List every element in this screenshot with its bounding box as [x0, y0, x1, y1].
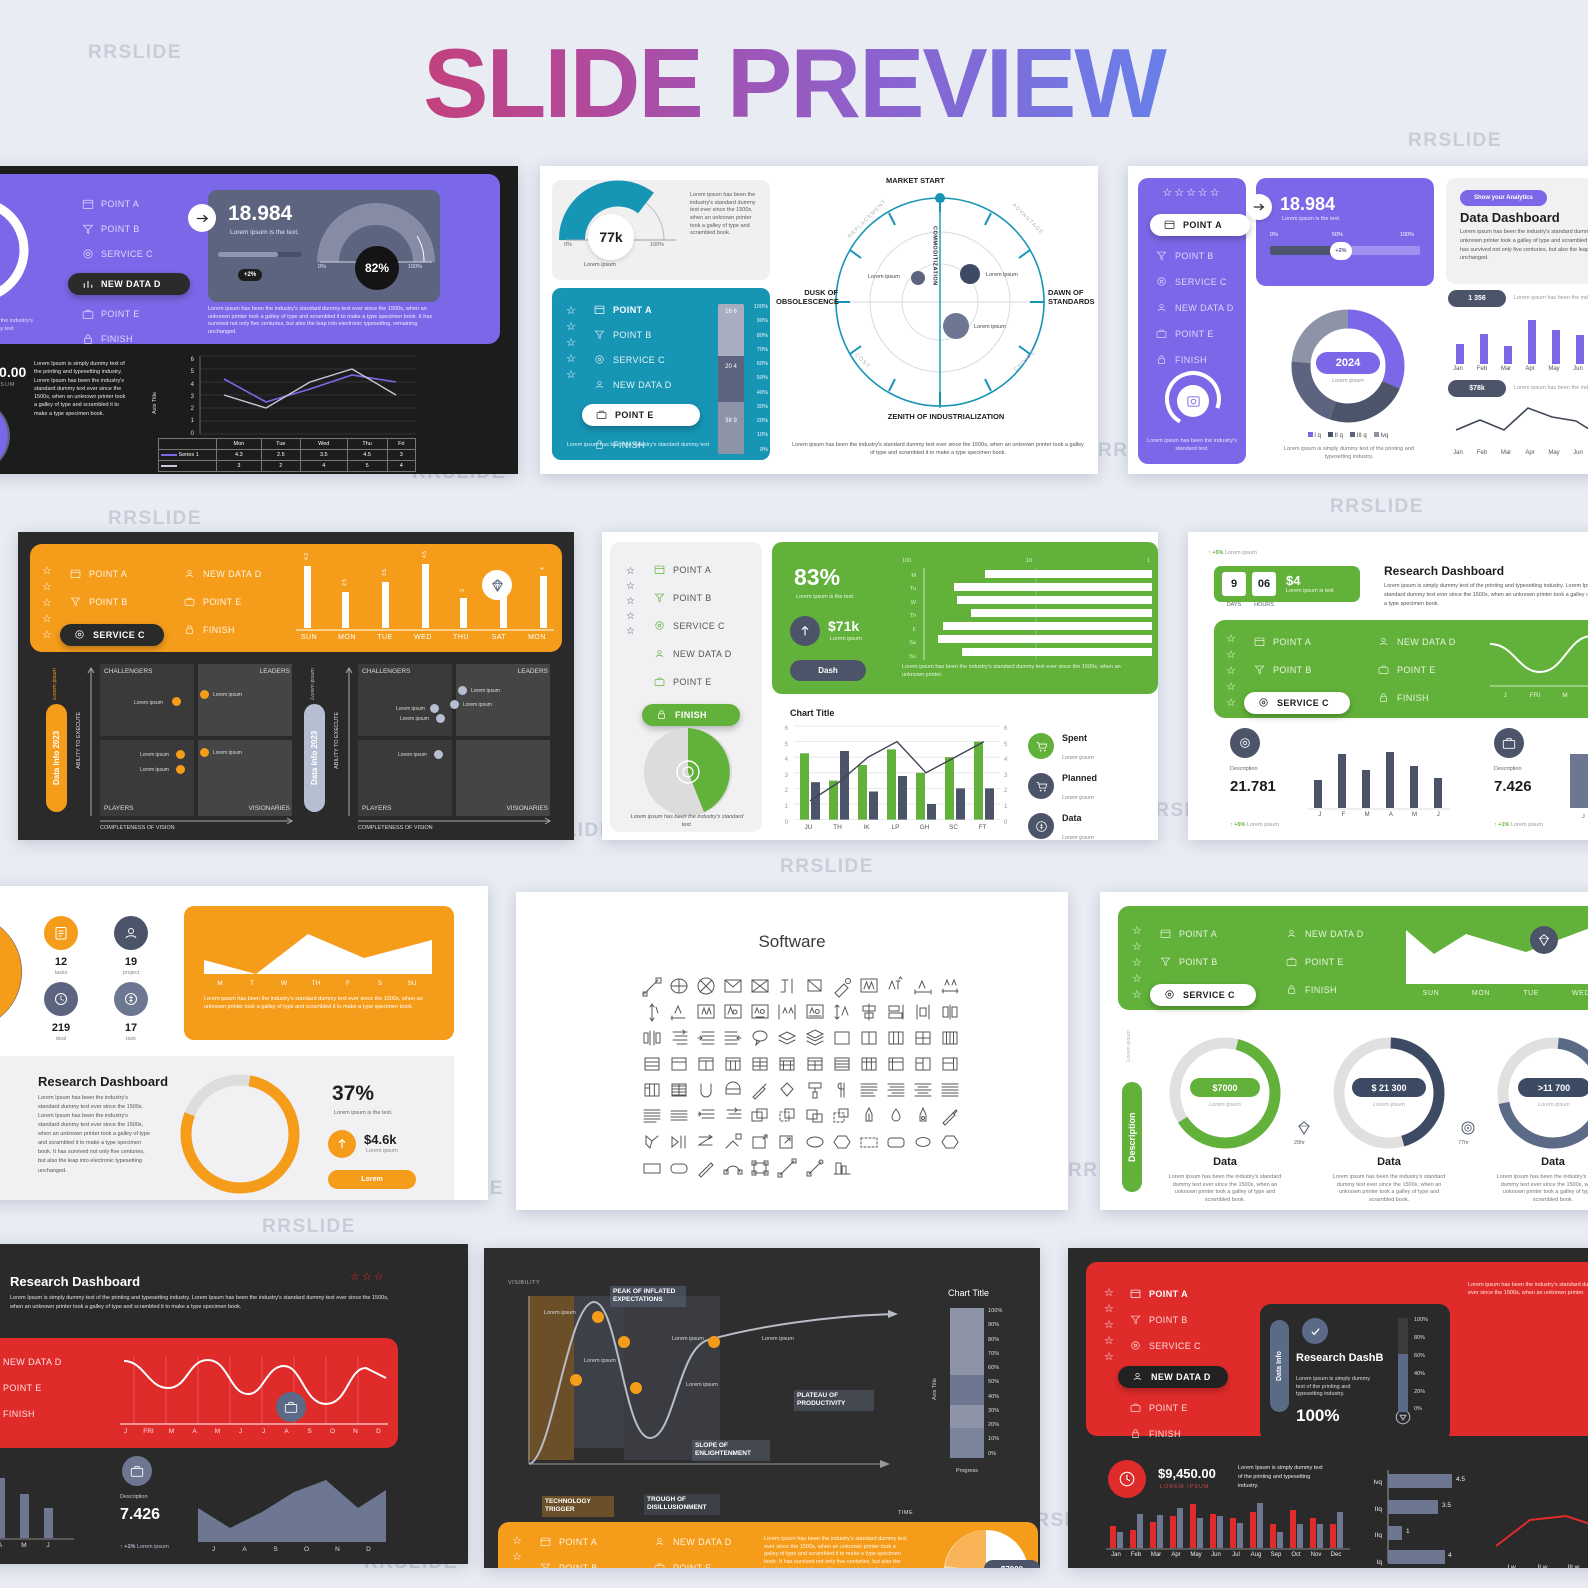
star-rating[interactable]: ☆☆☆☆☆ — [1226, 632, 1236, 712]
top-note: Lorem ipsum has been the industry's stan… — [1468, 1282, 1588, 1297]
radar-label-right: DAWN OF STANDARDS — [1048, 288, 1098, 307]
slider-thumb[interactable]: +2% — [1330, 242, 1352, 260]
bubble — [176, 750, 185, 759]
progress-ticks: 100%90% 80%70% 60%50% 40%30% 20%10% 0% — [988, 1304, 1002, 1461]
sidebar-caption: Lorem ipsum has been the industry's stan… — [1146, 438, 1238, 453]
quadrant-right: Data Info 2023 Lorem ipsum ABILITY TO EX… — [304, 664, 554, 832]
software-icon — [696, 1158, 716, 1178]
slider-tick: 100% — [1400, 232, 1414, 240]
donut-paragraph: Lorem ipsum has been the industry's stan… — [1328, 1174, 1450, 1205]
slide-software-icon-grid[interactable]: Software — [516, 892, 1068, 1210]
radar-label-top: MARKET START — [886, 176, 945, 185]
nav-item-new-data-d[interactable]: NEW DATA D — [1150, 302, 1250, 314]
nav-label: NEW DATA D — [1175, 303, 1234, 313]
quadrant-y-axis: ABILITY TO EXECUTE — [334, 712, 342, 769]
nav-label: SERVICE C — [1175, 277, 1227, 287]
quadrant-badge: Data Info 2023 — [304, 704, 325, 812]
progress-segment — [950, 1308, 984, 1375]
nav-item-finish[interactable]: FINISH — [1130, 1428, 1228, 1440]
week-labels: I w II w III w IV — [1496, 1564, 1588, 1568]
nav-label: POINT B — [89, 597, 128, 607]
slide-red-dashboard[interactable]: ☆☆☆☆☆ POINT A POINT B SERVICE C NEW DATA… — [1068, 1248, 1588, 1568]
quadrant-left: Data Info 2023 Lorem ipsum ABILITY TO EX… — [46, 664, 296, 832]
stat-delta: ↑ +5% Lorem ipsum — [1230, 822, 1279, 830]
nav-item-point-b[interactable]: POINT B — [1254, 664, 1350, 676]
slide-orange-research-dashboard[interactable]: 42% 12 tasks 19 project 219 deal 17 task… — [0, 886, 488, 1200]
hbar-values: 4.5 3.5 1 4 — [1386, 1470, 1482, 1568]
nav-list[interactable]: POINT A POINT B SERVICE C NEW DATA D POI… — [82, 198, 190, 345]
card-meter-ticks: 100%80% 60%40% 20%0% — [1414, 1312, 1428, 1419]
nav-list[interactable]: POINT A POINT B SERVICE C NEW DATA D POI… — [1130, 1288, 1228, 1440]
filter-icon — [654, 592, 666, 604]
panel-month-labels: J FRI M A M J — [1490, 692, 1588, 699]
nav-label: FINISH — [1305, 985, 1337, 995]
axis-title: Axis Title — [152, 392, 160, 414]
nav-item-point-e[interactable]: POINT E — [184, 596, 262, 608]
money-label: LOREM IPSUM — [1160, 1484, 1210, 1492]
day-labels: SUN MON TUE WED THU SAT MON — [290, 634, 556, 641]
legend-sub: Lorem ipsum — [1062, 755, 1094, 761]
nav-label: POINT B — [673, 593, 712, 603]
star-rating[interactable]: ☆☆☆☆☆ — [626, 564, 635, 639]
software-icon — [886, 1028, 906, 1048]
meter-segment: 16 6 — [718, 304, 744, 356]
dollar-icon — [1028, 813, 1054, 839]
countdown-days-value: 9 — [1222, 572, 1246, 596]
legend-item-data: Data Lorem ipsum — [1028, 808, 1094, 840]
lock-icon — [1378, 692, 1390, 704]
software-icon — [940, 1002, 960, 1022]
nav-item-point-b[interactable]: POINT B — [1150, 250, 1250, 262]
nav-label: POINT E — [673, 677, 712, 687]
countdown-hours-value: 06 — [1252, 572, 1276, 596]
software-icon — [913, 1106, 933, 1126]
red-line-chart — [1496, 1502, 1588, 1558]
gauge-percent: 82% — [355, 246, 399, 290]
software-icon — [669, 1158, 689, 1178]
nav-item-service-c[interactable]: SERVICE C — [594, 354, 700, 366]
software-icon — [696, 1054, 716, 1074]
nav-label: NEW DATA D — [1397, 637, 1456, 647]
nav-item-service-c[interactable]: SERVICE C — [1130, 1340, 1228, 1352]
radar-axis-label: COMMODITIZATION — [930, 226, 938, 286]
clock-icon — [1108, 1460, 1146, 1498]
people-icon — [1132, 1371, 1144, 1383]
card-meter — [1398, 1318, 1408, 1412]
nav-label: POINT B — [101, 224, 140, 234]
nav-list[interactable]: POINT A POINT B SERVICE C NEW DATA D POI… — [654, 564, 740, 726]
nav-list-col2[interactable]: NEW DATA D POINT E FINISH — [184, 568, 262, 636]
target-icon — [1460, 1120, 1476, 1136]
software-icon — [913, 976, 933, 996]
nav-item-point-a[interactable]: POINT A — [540, 1536, 632, 1548]
stat-month-label: J — [1582, 814, 1585, 822]
nav-label: POINT B — [1179, 957, 1218, 967]
chart-icon — [82, 278, 94, 290]
nav-item-point-b[interactable]: POINT B — [70, 596, 164, 608]
bar-month-labels: J F M A M J — [0, 1542, 76, 1549]
donut-title: Data — [1348, 1156, 1430, 1168]
bubble — [200, 690, 209, 699]
nav-item-service-c-active[interactable]: SERVICE C — [1150, 984, 1256, 1006]
software-icon — [805, 1132, 825, 1152]
nav-label: NEW DATA D — [613, 380, 672, 390]
nav-label: NEW DATA D — [101, 279, 161, 289]
gear-icon — [654, 620, 666, 632]
nav-item-point-e-active[interactable]: POINT E — [582, 404, 700, 426]
nav-item-point-b[interactable]: POINT B — [594, 329, 700, 341]
nav-item-new-data-d[interactable]: NEW DATA D — [594, 379, 700, 391]
stat-badge: 1 356 — [1448, 290, 1506, 307]
nav-item-finish[interactable]: FINISH — [0, 1408, 62, 1420]
slide-green-research-dashboard[interactable]: ↑ +5% Lorem ipsum 9 06 DAYS HOURS $4 Lor… — [1188, 532, 1588, 840]
nav-item-service-c[interactable]: SERVICE C — [82, 248, 190, 260]
gauge-min: 0% — [318, 264, 326, 272]
lock-icon — [656, 709, 668, 721]
month-labels: Jan Feb Mar Apr May Jun Jul Aug — [1446, 450, 1588, 456]
quadrant-label-br: VISIONARIES — [456, 804, 548, 813]
panel-line-chart — [1490, 630, 1588, 692]
nav-list-col2[interactable]: NEW DATA D POINT E FINISH — [1286, 928, 1364, 996]
side-note: Lorem ipsum — [1126, 1030, 1134, 1062]
card-percent: 100% — [1296, 1406, 1339, 1426]
trend-badge: ↑ +5% Lorem ipsum — [1208, 550, 1257, 558]
nav-item-point-b[interactable]: POINT B — [540, 1562, 632, 1568]
nav-item-point-a[interactable]: POINT A — [594, 304, 700, 316]
line-marker-icon — [276, 1392, 306, 1422]
slider-tick: 50% — [1332, 232, 1343, 240]
donut-value: >11 700 — [1518, 1078, 1588, 1097]
star-rating[interactable]: ☆☆☆☆☆ — [1132, 924, 1142, 1004]
nav-label: SERVICE C — [673, 621, 725, 631]
nav-item-point-b[interactable]: POINT B — [1130, 1314, 1228, 1326]
nav-item-point-b[interactable]: POINT B — [82, 223, 190, 235]
check-icon — [1302, 1318, 1328, 1344]
nav-item-new-data-d[interactable]: NEW DATA D — [654, 648, 740, 660]
quadrant-label-tr: LEADERS — [198, 667, 290, 676]
donut-sub: Lorem ipsum — [1518, 1102, 1588, 1110]
donut-caption: Lorem ipsum is simply dummy text of the … — [1282, 446, 1416, 461]
star-rating[interactable]: ☆☆☆☆☆ — [512, 1534, 522, 1568]
software-icon — [696, 1028, 716, 1048]
bubble — [436, 714, 445, 723]
star-rating[interactable]: ☆☆☆☆☆ — [1104, 1286, 1114, 1366]
delta-badge: +2% — [238, 269, 262, 281]
nav-item-new-data-d[interactable]: NEW DATA D — [1378, 636, 1456, 648]
bubble — [176, 765, 185, 774]
nav-label: POINT A — [101, 199, 139, 209]
analytics-badge[interactable]: Show your Analytics — [1460, 190, 1547, 206]
nav-item-point-e[interactable]: POINT E — [1286, 956, 1364, 968]
area-paragraph: Lorem ipsum has been the industry's stan… — [204, 996, 436, 1011]
software-icon — [642, 1106, 662, 1126]
bubble-label: Lorem ipsum — [134, 700, 163, 706]
software-icon — [723, 1028, 743, 1048]
software-icon — [777, 976, 797, 996]
nav-item-point-e[interactable]: POINT E — [654, 676, 740, 688]
slide-teal-market-radar[interactable]: 77k 0% 100% Lorem ipsum Lorem ipsum has … — [540, 166, 1098, 474]
stat-value: 219 — [42, 1022, 80, 1034]
lorem-button[interactable]: Lorem — [328, 1170, 416, 1189]
nav-list-col2[interactable]: NEW DATA D POINT E FINISH — [1378, 636, 1456, 704]
panel-month-labels: J FRI M A M J J A S O N D — [114, 1428, 394, 1435]
stat-label: project — [114, 970, 148, 978]
software-icon — [777, 1106, 797, 1126]
filter-icon — [1130, 1314, 1142, 1326]
x-axis-label: TIME — [898, 1510, 913, 1518]
nav-item-point-a[interactable]: POINT A — [70, 568, 164, 580]
nav-item-finish[interactable]: FINISH — [82, 333, 190, 345]
point-label: Lorem ipsum — [672, 1336, 704, 1344]
nav-label: POINT A — [1149, 1289, 1188, 1299]
quadrant-y-note: Lorem ipsum — [310, 668, 318, 700]
nav-item-point-e[interactable]: POINT E — [654, 1562, 732, 1568]
bubble-label: Lorem ipsum — [396, 706, 425, 712]
nav-item-point-a[interactable]: POINT A — [1160, 928, 1256, 940]
slide-green-dash-chart[interactable]: ☆☆☆☆☆ POINT A POINT B SERVICE C NEW DATA… — [602, 532, 1158, 840]
briefcase-icon — [654, 676, 666, 688]
nav-item-point-e[interactable]: POINT E — [1150, 328, 1250, 340]
filter-icon — [1160, 956, 1172, 968]
radar-bubble-label: Lorem ipsum — [974, 324, 1006, 332]
nav-item-finish[interactable]: FINISH — [1150, 354, 1250, 366]
nav-item-new-data-d-active[interactable]: NEW DATA D — [68, 273, 190, 295]
nav-item-point-e[interactable]: POINT E — [82, 308, 190, 320]
star-rating[interactable]: ☆☆☆☆☆ — [566, 304, 576, 384]
quadrant-label-br: VISIONARIES — [198, 804, 290, 813]
nav-item-new-data-d[interactable]: NEW DATA D — [1286, 928, 1364, 940]
nav-item-point-e[interactable]: POINT E — [1130, 1402, 1228, 1414]
quadrant-label-tr: LEADERS — [456, 667, 548, 676]
filter-icon — [1156, 250, 1168, 262]
nav-item-new-data-d-active[interactable]: NEW DATA D — [1118, 1366, 1228, 1388]
software-icon — [750, 1054, 770, 1074]
data-table: Mon Tue Wed Thu Fri Series 1 4.3 2.5 3.5… — [158, 438, 416, 472]
software-title: Software — [516, 932, 1068, 952]
meter-segment: 20 4 — [718, 356, 744, 402]
nav-item-point-a[interactable]: POINT A — [654, 564, 740, 576]
donut-caption: Lorem ipsum has been the industry's stan… — [0, 318, 42, 333]
nav-list[interactable]: POINT A POINT B SERVICE C NEW DATA D POI… — [594, 304, 700, 451]
desc-label: Description — [120, 1494, 148, 1502]
watermark: RRSLIDE — [108, 508, 202, 530]
quadrant-label-tl: CHALLENGERS — [104, 667, 152, 676]
area-chart — [198, 1478, 386, 1544]
software-icon — [832, 1080, 852, 1100]
nav-item-point-a[interactable]: POINT A — [1254, 636, 1350, 648]
nav-list-col1[interactable]: POINT A POINT B SERVICE C — [1254, 636, 1350, 714]
research-paragraph: Lorem Ipsum is simply dummy text of the … — [10, 1294, 392, 1312]
software-icon — [777, 1080, 797, 1100]
dash-button[interactable]: Dash — [790, 660, 866, 681]
software-icon — [723, 976, 743, 996]
phase-label-trough: TROUGH OF DISILLUSIONMENT — [644, 1494, 720, 1515]
nav-item-point-a[interactable]: POINT A — [82, 198, 190, 210]
desc-delta: ↑ +1% Lorem ipsum — [120, 1544, 169, 1552]
star-rating[interactable]: ☆☆☆☆☆ — [1146, 186, 1238, 199]
donut-chart — [0, 188, 50, 316]
quadrant-label-tl: CHALLENGERS — [362, 667, 410, 676]
area-day-labels: M T W TH F S SU — [204, 980, 432, 987]
percent-value: 83% — [794, 564, 840, 591]
software-icon — [913, 1028, 933, 1048]
nav-label: POINT B — [559, 1563, 598, 1568]
area-month-labels: J A S O N D — [198, 1546, 386, 1553]
card-side-badge: Data Info — [1270, 1320, 1289, 1412]
kpi-value: 18.984 — [1280, 194, 1335, 215]
hbar-scale: 100101 — [902, 558, 1150, 566]
software-icon — [832, 1002, 852, 1022]
software-icon — [777, 1158, 797, 1178]
nav-item-service-c[interactable]: SERVICE C — [654, 620, 740, 632]
pie-chart — [642, 726, 734, 818]
kpi-sub: Lorem ipsum is the text. — [230, 228, 299, 237]
nav-label: FINISH — [1149, 1429, 1181, 1439]
body-paragraph: Lorem Ipsum is simply dummy text of the … — [34, 360, 126, 418]
nav-item-point-b[interactable]: POINT B — [654, 592, 740, 604]
gear-icon — [1230, 728, 1260, 758]
slide-red-research-dashboard[interactable]: Lorem ipsum is text Research Dashboard L… — [0, 1244, 468, 1564]
nav-item-service-c-active[interactable]: SERVICE C — [60, 624, 164, 646]
legend-label: Data — [1062, 813, 1082, 823]
nav-label: FINISH — [101, 334, 133, 344]
gauge-paragraph: Lorem ipsum has been the industry's stan… — [690, 192, 760, 238]
software-icon — [723, 1054, 743, 1074]
nav-label: FINISH — [675, 710, 707, 720]
software-icon — [723, 1158, 743, 1178]
nav-item-service-c[interactable]: SERVICE C — [1150, 276, 1250, 288]
diamond-icon — [1296, 1120, 1312, 1136]
nav-list-col1[interactable]: POINT A POINT B SERVICE C — [1160, 928, 1256, 1006]
progress-segment — [950, 1405, 984, 1428]
software-icon — [777, 1132, 797, 1152]
slide-orange-dark-quadrant[interactable]: ☆☆☆☆☆ POINT A POINT B SERVICE C NEW DATA… — [18, 532, 574, 840]
quadrant-badge: Data Info 2023 — [46, 704, 67, 812]
calendar-icon — [1164, 219, 1176, 231]
research-heading: Research Dashboard — [10, 1274, 140, 1289]
nav-item-service-c-active[interactable]: SERVICE C — [1244, 692, 1350, 714]
hbar-note: Lorem ipsum has been the industry's stan… — [902, 664, 1138, 679]
stat-note: Lorem ipsum has been the industry — [1514, 295, 1588, 303]
lock-icon — [1156, 354, 1168, 366]
safe-icon — [1177, 385, 1209, 417]
star-rating[interactable]: ☆☆☆ — [350, 1270, 386, 1283]
nav-item-finish-active[interactable]: FINISH — [642, 704, 740, 726]
nav-item-point-a-active[interactable]: POINT A — [1150, 214, 1250, 236]
icon-grid — [642, 976, 962, 1178]
bubble-label: Lorem ipsum — [213, 750, 242, 756]
slide-hype-cycle[interactable]: VISIBILITY Lorem ipsum Lorem ipsum Lorem… — [484, 1248, 1040, 1568]
nav-item-point-b[interactable]: POINT B — [1160, 956, 1256, 968]
software-icon — [723, 1106, 743, 1126]
bubble — [458, 686, 467, 695]
software-icon — [805, 1106, 825, 1126]
briefcase-icon — [1130, 1402, 1142, 1414]
briefcase-icon — [1156, 328, 1168, 340]
slide-purple-data-dashboard[interactable]: ☆☆☆☆☆ POINT A POINT B SERVICE C NEW DATA… — [1128, 166, 1588, 474]
filter-icon — [70, 596, 82, 608]
nav-list-col1[interactable]: POINT A POINT B SERVICE C — [70, 568, 164, 646]
quadrant-y-note: Lorem ipsum — [52, 668, 60, 700]
nav-item-new-data-d[interactable]: NEW DATA D — [184, 568, 262, 580]
bubble-label: Lorem ipsum — [213, 692, 242, 698]
software-icon — [669, 1132, 689, 1152]
stat-badge: $78k — [1448, 380, 1506, 397]
phase-label-peak: PEAK OF INFLATED EXPECTATIONS — [610, 1286, 686, 1307]
slide-green-donut-cards[interactable]: ☆☆☆☆☆ POINT A POINT B SERVICE C NEW DATA… — [1100, 892, 1588, 1210]
calendar-icon — [82, 198, 94, 210]
calendar-icon — [654, 564, 666, 576]
radar-label-bottom: ZENITH OF INDUSTRIALIZATION — [886, 412, 1006, 421]
nav-label: NEW DATA D — [1151, 1372, 1211, 1382]
stat-people — [114, 916, 148, 950]
radar-diagram: MARKET START COMMODITIZATION L — [790, 174, 1090, 426]
nav-list-col1[interactable]: POINT A POINT B SERVICE C — [540, 1536, 632, 1568]
software-icon — [723, 1080, 743, 1100]
nav-label: NEW DATA D — [673, 1537, 732, 1547]
slide-purple-dark-dashboard[interactable]: Lorem ipsum has been the industry's stan… — [0, 166, 518, 474]
nav-item-finish[interactable]: FINISH — [1378, 692, 1456, 704]
software-icon — [859, 1080, 879, 1100]
star-rating[interactable]: ☆☆☆☆☆ — [42, 564, 52, 644]
chart-x-labels: JU TH IK LP GH SC FT — [794, 824, 1000, 831]
nav-label: FINISH — [1175, 355, 1207, 365]
watermark: RRSLIDE — [1408, 130, 1502, 152]
bubble-label: Lorem ipsum — [471, 688, 500, 694]
research-paragraph: Lorem Ipsum has been the industry's stan… — [38, 1094, 150, 1176]
nav-list[interactable]: POINT A POINT B SERVICE C NEW DATA D POI… — [1150, 214, 1250, 366]
nav-item-finish[interactable]: FINISH — [1286, 984, 1364, 996]
nav-label: POINT A — [673, 565, 711, 575]
software-icon — [805, 1054, 825, 1074]
slider-tick: 0% — [1270, 232, 1278, 240]
donut-paragraph: Lorem ipsum has been the industry's stan… — [1492, 1174, 1588, 1205]
nav-list-col2[interactable]: NEW DATA D POINT E FINISH — [654, 1536, 732, 1568]
nav-item-new-data-d[interactable]: NEW DATA D — [654, 1536, 732, 1548]
bubble — [172, 697, 181, 706]
nav-label: POINT E — [1175, 329, 1214, 339]
nav-item-point-e[interactable]: POINT E — [0, 1382, 62, 1394]
gear-icon — [594, 354, 606, 366]
software-icon — [832, 1106, 852, 1126]
panel-area-chart — [1406, 920, 1588, 988]
nav-item-point-a[interactable]: POINT A — [1130, 1288, 1228, 1300]
watermark: RRSLIDE — [262, 1216, 356, 1238]
software-icon — [859, 1106, 879, 1126]
desc-value: 7.426 — [120, 1506, 160, 1524]
panel-caption: Lorem ipsum has been the industry's stan… — [564, 442, 712, 450]
pie-caption: Lorem ipsum has been the industry's stan… — [630, 814, 744, 829]
nav-item-finish[interactable]: FINISH — [184, 624, 262, 636]
amount-value: $71k — [828, 618, 859, 634]
amount-value: $4 — [1286, 573, 1300, 588]
nav-label: POINT A — [1179, 929, 1217, 939]
software-icon — [696, 976, 716, 996]
nav-label: POINT E — [1149, 1403, 1188, 1413]
software-icon — [913, 1002, 933, 1022]
stat-clipboard — [44, 916, 78, 950]
nav-item-point-e[interactable]: POINT E — [1378, 664, 1456, 676]
nav-label: POINT E — [673, 1563, 712, 1568]
nav-list[interactable]: NEW DATA D POINT E FINISH — [0, 1356, 62, 1420]
nav-item-new-data-d[interactable]: NEW DATA D — [0, 1356, 62, 1368]
filter-icon — [1254, 664, 1266, 676]
gauge-caption: Lorem ipsum — [584, 262, 616, 270]
horizontal-bar-chart — [920, 568, 1152, 662]
line-chart — [1446, 404, 1588, 446]
stat-label: Description — [1494, 766, 1522, 774]
calendar-icon — [70, 568, 82, 580]
